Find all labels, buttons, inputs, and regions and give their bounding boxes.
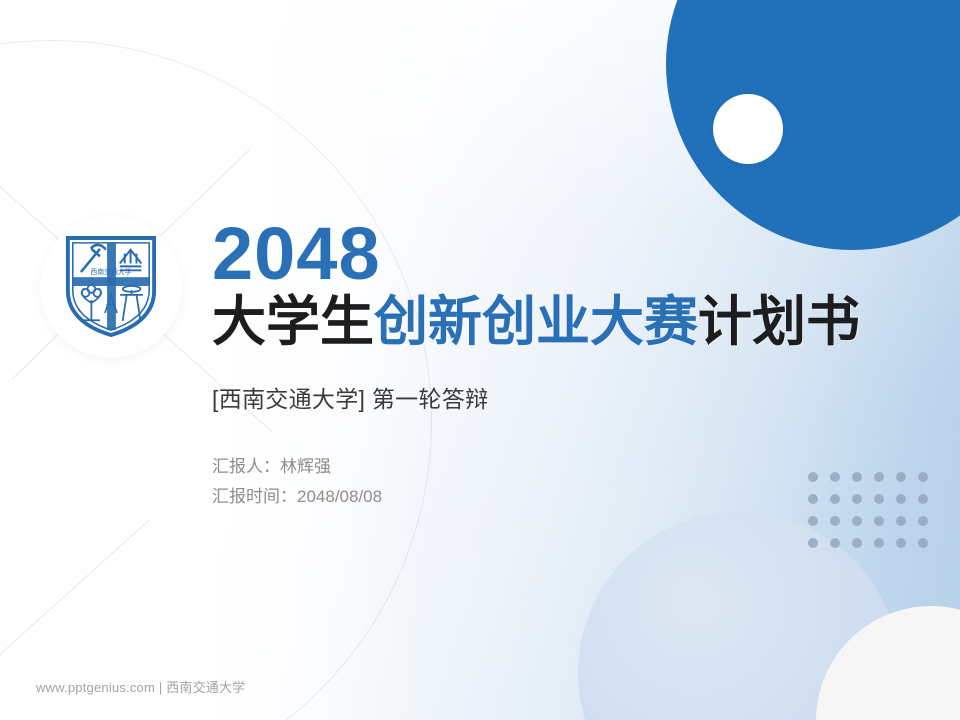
dot <box>808 516 818 526</box>
decorative-circle-top-white <box>713 94 783 164</box>
dot <box>874 538 884 548</box>
dot <box>918 516 928 526</box>
headline-part-1: 大学生 <box>212 292 374 352</box>
dot <box>896 538 906 548</box>
title-slide: 西南交通大学 2048 大学生创新创业大赛计划书 [西南交通大学] 第一轮答辩 … <box>0 0 960 720</box>
dot <box>874 516 884 526</box>
dot <box>918 494 928 504</box>
headline-part-2: 创新创业大赛 <box>374 292 698 352</box>
university-logo: 西南交通大学 <box>62 234 160 338</box>
presenter-line: 汇报人：林辉强 <box>212 452 912 482</box>
dot <box>808 538 818 548</box>
presentation-meta: 汇报人：林辉强 汇报时间：2048/08/08 <box>212 452 912 512</box>
date-line: 汇报时间：2048/08/08 <box>212 482 912 512</box>
dot <box>918 472 928 482</box>
university-crest-icon: 西南交通大学 <box>62 234 160 338</box>
main-headline: 大学生创新创业大赛计划书 <box>212 293 912 352</box>
dot <box>852 516 862 526</box>
dot <box>830 516 840 526</box>
headline-part-3: 计划书 <box>698 292 860 352</box>
dot <box>896 516 906 526</box>
dot <box>852 538 862 548</box>
dot <box>830 538 840 548</box>
title-text-block: 2048 大学生创新创业大赛计划书 [西南交通大学] 第一轮答辩 汇报人：林辉强… <box>212 218 912 511</box>
crest-motto: 西南交通大学 <box>90 267 131 276</box>
subtitle: [西南交通大学] 第一轮答辩 <box>212 380 912 414</box>
dot <box>918 538 928 548</box>
footer-text: www.pptgenius.com | 西南交通大学 <box>36 677 245 696</box>
year-title: 2048 <box>212 218 912 291</box>
